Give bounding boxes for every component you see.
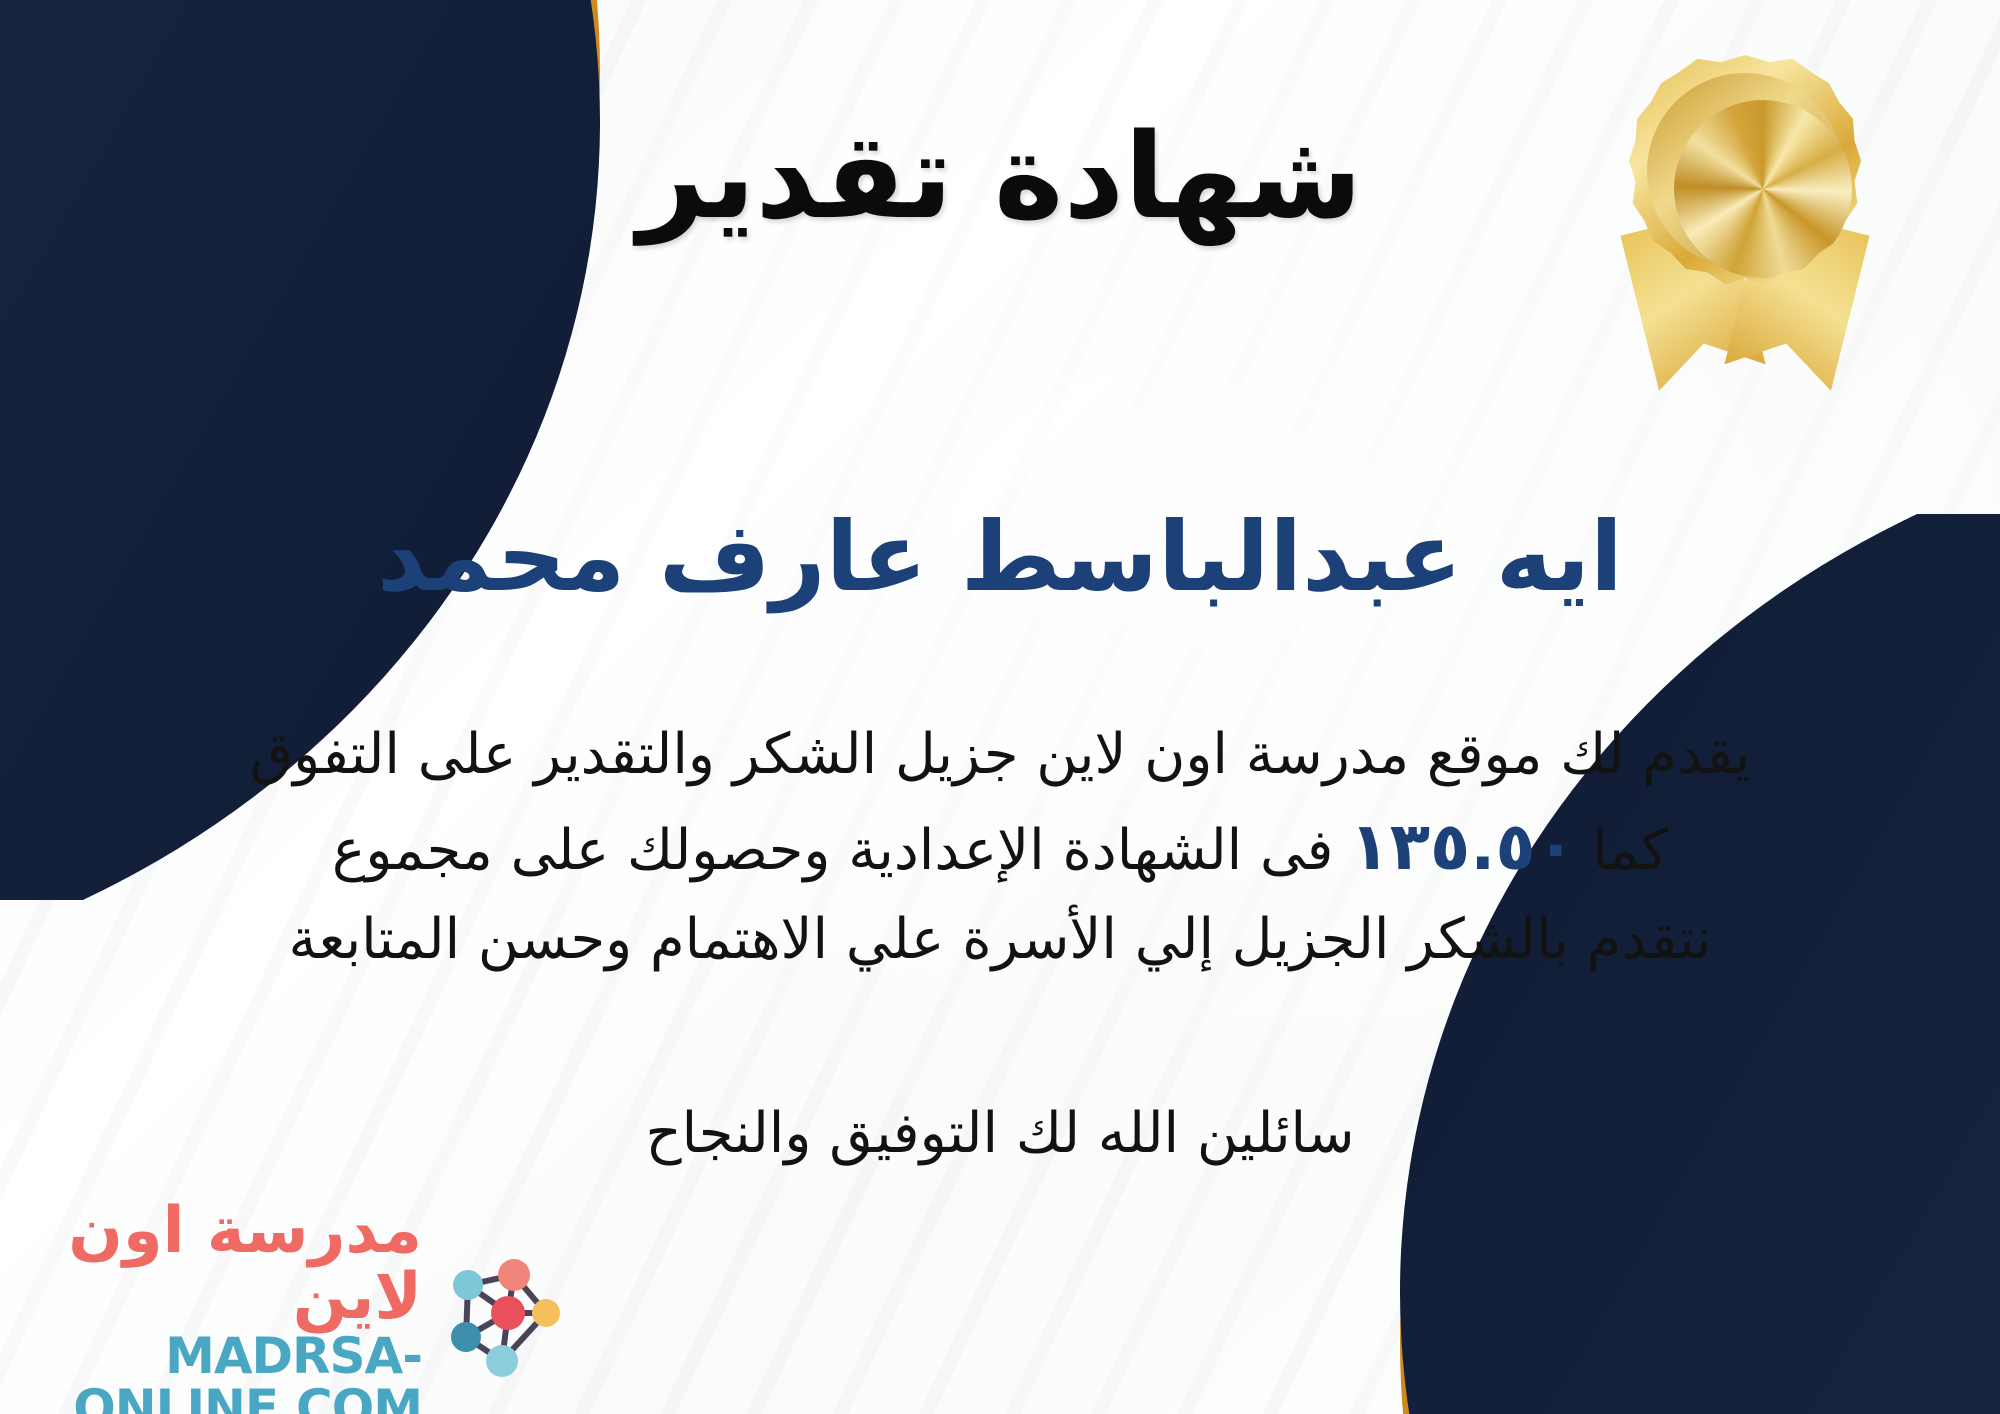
grade-value: ١٣٥.٥٠ bbox=[1333, 808, 1592, 885]
certificate-title: شهادة تقدير bbox=[0, 112, 2000, 242]
network-nodes-icon bbox=[436, 1251, 564, 1383]
certificate-body: يقدم لك موقع مدرسة اون لاين جزيل الشكر و… bbox=[60, 712, 1940, 983]
body-line-1: يقدم لك موقع مدرسة اون لاين جزيل الشكر و… bbox=[60, 712, 1940, 797]
body-line-2-suffix: كما bbox=[1592, 818, 1668, 883]
brand-name-arabic: مدرسة اون لاين bbox=[34, 1199, 422, 1330]
body-line-2: كما١٣٥.٥٠فى الشهادة الإعدادية وحصولك على… bbox=[60, 797, 1940, 897]
body-line-2-prefix: فى الشهادة الإعدادية وحصولك على مجموع bbox=[332, 818, 1334, 883]
brand-website: MADRSA-ONLINE.COM bbox=[34, 1330, 422, 1414]
brand-logo-text: مدرسة اون لاين MADRSA-ONLINE.COM bbox=[34, 1199, 428, 1414]
closing-wish-line: سائلين الله لك التوفيق والنجاح bbox=[0, 1095, 2000, 1173]
brand-logo[interactable]: مدرسة اون لاين MADRSA-ONLINE.COM bbox=[34, 1242, 564, 1392]
certificate-canvas: شهادة تقدير ايه عبدالباسط عارف محمد يقدم… bbox=[0, 0, 2000, 1414]
student-name: ايه عبدالباسط عارف محمد bbox=[0, 502, 2000, 612]
body-line-3: نتقدم بالشكر الجزيل إلي الأسرة علي الاهت… bbox=[60, 897, 1940, 982]
